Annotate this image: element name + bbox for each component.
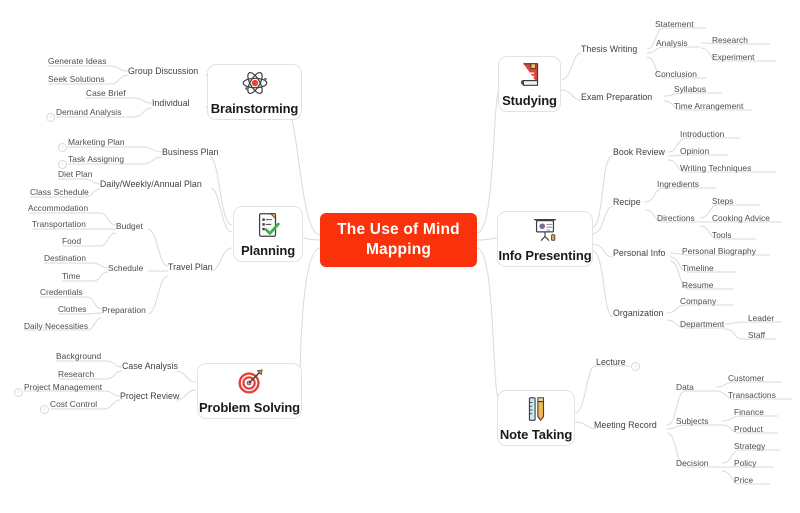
node-clothes[interactable]: Clothes xyxy=(58,304,86,315)
node-research-thesis[interactable]: Research xyxy=(712,35,748,46)
node-budget[interactable]: Budget xyxy=(116,221,143,232)
node-conclusion[interactable]: Conclusion xyxy=(655,69,697,80)
node-marketing-plan[interactable]: Marketing Plan xyxy=(68,137,125,148)
node-directions[interactable]: Directions xyxy=(657,213,695,224)
node-exam-preparation[interactable]: Exam Preparation xyxy=(581,92,652,103)
node-experiment[interactable]: Experiment xyxy=(712,52,754,63)
node-demand-analysis[interactable]: Demand Analysis xyxy=(56,107,121,118)
topic-problem-solving[interactable]: Problem Solving xyxy=(197,363,302,419)
node-schedule[interactable]: Schedule xyxy=(108,263,143,274)
note-badge-demand-analysis: ♪ xyxy=(46,113,55,122)
node-travel-plan[interactable]: Travel Plan xyxy=(168,262,213,273)
node-daily-necessities[interactable]: Daily Necessities xyxy=(24,321,88,332)
topic-label-problem-solving: Problem Solving xyxy=(199,400,300,415)
node-timeline[interactable]: Timeline xyxy=(682,263,714,274)
node-analysis[interactable]: Analysis xyxy=(656,38,688,49)
node-lecture[interactable]: Lecture xyxy=(596,357,626,368)
node-finance[interactable]: Finance xyxy=(734,407,764,418)
node-personal-biography[interactable]: Personal Biography xyxy=(682,246,756,257)
topic-label-note-taking: Note Taking xyxy=(500,427,572,442)
node-staff[interactable]: Staff xyxy=(748,330,765,341)
topic-label-brainstorming: Brainstorming xyxy=(211,101,299,116)
clipboard-check-icon xyxy=(253,210,283,240)
node-time-arrangement[interactable]: Time Arrangement xyxy=(674,101,743,112)
topic-info-presenting[interactable]: Info Presenting xyxy=(497,211,593,267)
node-policy[interactable]: Policy xyxy=(734,458,756,469)
note-badge-project-management: ♪ xyxy=(14,388,23,397)
node-group-discussion[interactable]: Group Discussion xyxy=(128,66,198,77)
node-subjects[interactable]: Subjects xyxy=(676,416,709,427)
node-task-assigning[interactable]: Task Assigning xyxy=(68,154,124,165)
node-transportation[interactable]: Transportation xyxy=(32,219,86,230)
topic-label-studying: Studying xyxy=(502,93,557,108)
node-dwa-plan[interactable]: Daily/Weekly/Annual Plan xyxy=(100,179,202,190)
node-leader[interactable]: Leader xyxy=(748,313,774,324)
mindmap-canvas: The Use of Mind Mapping Brainstorming xyxy=(0,0,800,513)
node-project-review[interactable]: Project Review xyxy=(120,391,179,402)
node-class-schedule[interactable]: Class Schedule xyxy=(30,187,89,198)
node-tools[interactable]: Tools xyxy=(712,230,732,241)
node-seek-solutions[interactable]: Seek Solutions xyxy=(48,74,105,85)
node-generate-ideas[interactable]: Generate Ideas xyxy=(48,56,106,67)
node-organization[interactable]: Organization xyxy=(613,308,663,319)
node-data[interactable]: Data xyxy=(676,382,694,393)
node-background[interactable]: Background xyxy=(56,351,101,362)
node-diet-plan[interactable]: Diet Plan xyxy=(58,169,92,180)
node-writing-techniques[interactable]: Writing Techniques xyxy=(680,163,751,174)
node-price[interactable]: Price xyxy=(734,475,753,486)
node-resume[interactable]: Resume xyxy=(682,280,714,291)
node-introduction[interactable]: Introduction xyxy=(680,129,724,140)
topic-planning[interactable]: Planning xyxy=(233,206,303,262)
node-cost-control[interactable]: Cost Control xyxy=(50,399,97,410)
node-food[interactable]: Food xyxy=(62,236,81,247)
node-destination[interactable]: Destination xyxy=(44,253,86,264)
atom-icon xyxy=(240,68,270,98)
node-credentials[interactable]: Credentials xyxy=(40,287,83,298)
node-steps[interactable]: Steps xyxy=(712,196,733,207)
node-preparation[interactable]: Preparation xyxy=(102,305,146,316)
node-ingredients[interactable]: Ingredients xyxy=(657,179,699,190)
node-department[interactable]: Department xyxy=(680,319,724,330)
node-transactions[interactable]: Transactions xyxy=(728,390,776,401)
node-case-analysis[interactable]: Case Analysis xyxy=(122,361,178,372)
topic-label-planning: Planning xyxy=(241,243,295,258)
node-time[interactable]: Time xyxy=(62,271,80,282)
node-project-management[interactable]: Project Management xyxy=(24,382,102,393)
central-node[interactable]: The Use of Mind Mapping xyxy=(320,213,477,267)
topic-label-info-presenting: Info Presenting xyxy=(498,248,591,263)
node-case-brief[interactable]: Case Brief xyxy=(86,88,126,99)
node-cooking-advice[interactable]: Cooking Advice xyxy=(712,213,770,224)
node-thesis-writing[interactable]: Thesis Writing xyxy=(581,44,637,55)
presentation-icon xyxy=(530,215,560,245)
topic-note-taking[interactable]: Note Taking xyxy=(497,390,575,446)
note-badge-lecture: ♪ xyxy=(631,362,640,371)
node-product[interactable]: Product xyxy=(734,424,763,435)
topic-studying[interactable]: Studying xyxy=(498,56,561,112)
node-personal-info[interactable]: Personal Info xyxy=(613,248,666,259)
note-badge-cost-control: ♪ xyxy=(40,405,49,414)
ruler-pencil-icon xyxy=(521,394,551,424)
target-icon xyxy=(235,367,265,397)
topic-brainstorming[interactable]: Brainstorming xyxy=(207,64,302,120)
node-book-review[interactable]: Book Review xyxy=(613,147,665,158)
node-recipe[interactable]: Recipe xyxy=(613,197,641,208)
node-decision[interactable]: Decision xyxy=(676,458,709,469)
note-badge-marketing-plan: ♪ xyxy=(58,143,67,152)
node-customer[interactable]: Customer xyxy=(728,373,764,384)
note-badge-task-assigning: ♪ xyxy=(58,160,67,169)
node-opinion[interactable]: Opinion xyxy=(680,146,709,157)
node-individual[interactable]: Individual xyxy=(152,98,190,109)
node-statement[interactable]: Statement xyxy=(655,19,694,30)
node-research-ps[interactable]: Research xyxy=(58,369,94,380)
central-node-title: The Use of Mind Mapping xyxy=(330,220,467,260)
node-business-plan[interactable]: Business Plan xyxy=(162,147,218,158)
node-strategy[interactable]: Strategy xyxy=(734,441,765,452)
book-icon xyxy=(515,60,545,90)
node-company[interactable]: Company xyxy=(680,296,716,307)
node-accommodation[interactable]: Accommodation xyxy=(28,203,88,214)
node-syllabus[interactable]: Syllabus xyxy=(674,84,706,95)
node-meeting-record[interactable]: Meeting Record xyxy=(594,420,657,431)
